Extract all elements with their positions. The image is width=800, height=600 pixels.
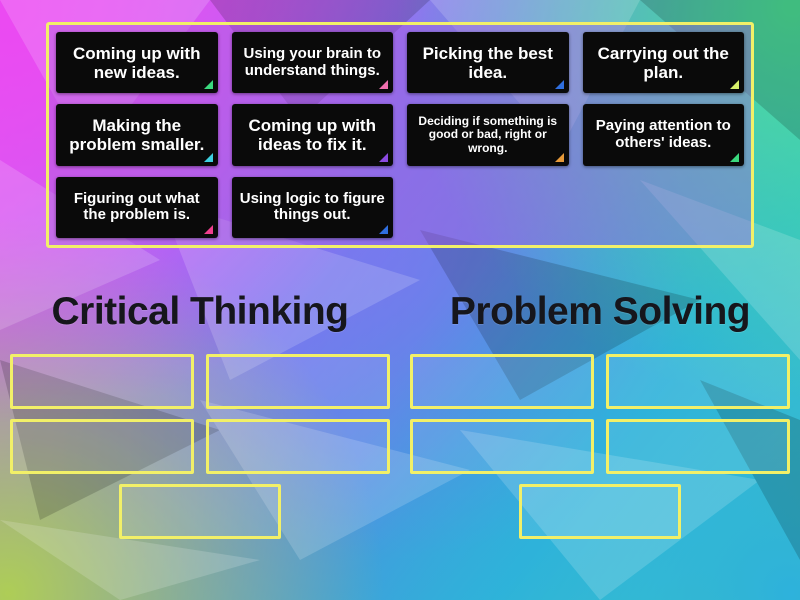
word-tile-label: Making the problem smaller.: [64, 116, 210, 154]
word-tile[interactable]: Paying attention to others' ideas.: [583, 104, 745, 165]
category-drop-slots: [0, 354, 400, 539]
word-tile-label: Coming up with new ideas.: [64, 44, 210, 82]
drag-corner-icon: [379, 80, 388, 89]
category-problem-solving: Problem Solving: [400, 282, 800, 600]
drop-slot[interactable]: [410, 419, 594, 474]
drag-corner-icon: [204, 80, 213, 89]
drop-slot[interactable]: [10, 419, 194, 474]
word-tile-label: Picking the best idea.: [415, 44, 561, 82]
word-tile-label: Using logic to figure things out.: [240, 191, 386, 225]
word-tile[interactable]: Deciding if something is good or bad, ri…: [407, 104, 569, 165]
word-tile[interactable]: Coming up with ideas to fix it.: [232, 104, 394, 165]
drag-corner-icon: [379, 153, 388, 162]
drag-corner-icon: [555, 153, 564, 162]
word-bank-empty-cell: [583, 177, 745, 238]
word-tile[interactable]: Carrying out the plan.: [583, 32, 745, 93]
drag-corner-icon: [379, 225, 388, 234]
drop-slot[interactable]: [206, 354, 390, 409]
word-tile-label: Deciding if something is good or bad, ri…: [415, 115, 561, 155]
drag-corner-icon: [730, 80, 739, 89]
word-tile-label: Using your brain to understand things.: [240, 46, 386, 80]
word-tile-label: Carrying out the plan.: [591, 44, 737, 82]
drop-slot[interactable]: [206, 419, 390, 474]
drop-slot[interactable]: [606, 419, 790, 474]
word-bank-grid: Coming up with new ideas. Using your bra…: [56, 32, 744, 238]
word-tile-label: Paying attention to others' ideas.: [591, 118, 737, 152]
word-tile[interactable]: Picking the best idea.: [407, 32, 569, 93]
drag-corner-icon: [204, 153, 213, 162]
drop-slot[interactable]: [410, 354, 594, 409]
word-tile[interactable]: Figuring out what the problem is.: [56, 177, 218, 238]
category-title: Problem Solving: [400, 292, 800, 331]
drag-corner-icon: [555, 80, 564, 89]
drop-slot[interactable]: [119, 484, 281, 539]
word-tile-label: Figuring out what the problem is.: [64, 191, 210, 225]
word-bank-empty-cell: [407, 177, 569, 238]
word-tile[interactable]: Coming up with new ideas.: [56, 32, 218, 93]
word-tile[interactable]: Making the problem smaller.: [56, 104, 218, 165]
drop-slot[interactable]: [606, 354, 790, 409]
word-tile-label: Coming up with ideas to fix it.: [240, 116, 386, 154]
drop-slot[interactable]: [519, 484, 681, 539]
word-tile[interactable]: Using your brain to understand things.: [232, 32, 394, 93]
category-drop-slots: [400, 354, 800, 539]
word-bank-panel: Coming up with new ideas. Using your bra…: [46, 22, 754, 248]
word-tile[interactable]: Using logic to figure things out.: [232, 177, 394, 238]
category-title: Critical Thinking: [0, 292, 400, 331]
category-critical-thinking: Critical Thinking: [0, 282, 400, 600]
drag-corner-icon: [204, 225, 213, 234]
category-columns: Critical Thinking Problem Solving: [0, 282, 800, 600]
drag-corner-icon: [730, 153, 739, 162]
drop-slot[interactable]: [10, 354, 194, 409]
